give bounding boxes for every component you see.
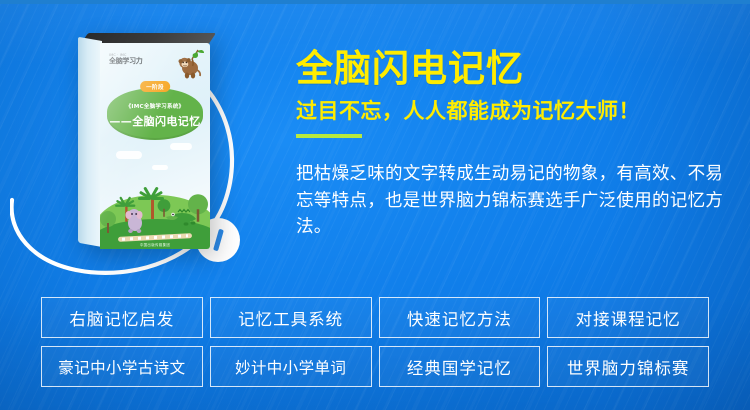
cover-title-plate: 一阶段 《IMC全脑学习系统》 ——全脑闪电记忆 xyxy=(107,88,203,140)
feature-tag[interactable]: 经典国学记忆 xyxy=(379,346,541,387)
cover-main-title: ——全脑闪电记忆 xyxy=(107,113,203,129)
cover-brand-logo: IMC · IMC 全脑学习力 xyxy=(109,54,143,65)
feature-tag[interactable]: 快速记忆方法 xyxy=(379,297,541,338)
feature-tag[interactable]: 妙计中小学单词 xyxy=(210,346,372,387)
crocodile-icon xyxy=(164,205,200,227)
monkey-icon xyxy=(172,48,206,82)
feature-tag-label: 记忆工具系统 xyxy=(238,306,343,330)
feature-tag[interactable]: 世界脑力锦标赛 xyxy=(547,346,709,387)
product-box: IMC · IMC 全脑学习力 xyxy=(78,33,210,255)
cover-illustration: 中国出版传媒集团 xyxy=(100,161,210,249)
feature-tag-label: 经典国学记忆 xyxy=(407,355,512,379)
promo-banner: IMC · IMC 全脑学习力 xyxy=(0,0,750,410)
description-paragraph: 把枯燥乏味的文字转成生动易记的物象，有高效、不易忘等特点，也是世界脑力锦标赛选手… xyxy=(296,161,724,241)
headline: 全脑闪电记忆 xyxy=(296,50,738,87)
cover-brand-name: 全脑学习力 xyxy=(109,58,143,65)
cover-stage-badge: 一阶段 xyxy=(140,81,170,92)
feature-tag[interactable]: 豪记中小学古诗文 xyxy=(41,346,203,387)
product-image-area: IMC · IMC 全脑学习力 xyxy=(0,0,285,292)
step-number-slash xyxy=(213,229,224,252)
feature-tag-label: 对接课程记忆 xyxy=(576,306,681,330)
feature-tag-label: 世界脑力锦标赛 xyxy=(567,355,690,379)
feature-tag-label: 右脑记忆启发 xyxy=(69,306,174,330)
copy-block: 全脑闪电记忆 过目不忘，人人都能成为记忆大师！ 把枯燥乏味的文字转成生动易记的物… xyxy=(296,50,738,241)
feature-tag-label: 妙计中小学单词 xyxy=(235,356,346,378)
feature-tag[interactable]: 右脑记忆启发 xyxy=(41,297,203,338)
feature-tag-label: 快速记忆方法 xyxy=(407,306,512,330)
cloud-icon xyxy=(116,151,142,159)
accent-divider xyxy=(296,134,362,138)
product-box-cover: IMC · IMC 全脑学习力 xyxy=(100,43,210,249)
product-box-spine xyxy=(78,37,102,247)
feature-tag[interactable]: 对接课程记忆 xyxy=(547,297,709,338)
subheadline: 过目不忘，人人都能成为记忆大师！ xyxy=(296,101,738,122)
cover-series-title: 《IMC全脑学习系统》 xyxy=(107,102,203,110)
feature-tag-grid: 右脑记忆启发 记忆工具系统 快速记忆方法 对接课程记忆 豪记中小学古诗文 妙计中… xyxy=(41,297,709,387)
tree-icon xyxy=(100,211,116,233)
elephant-icon xyxy=(122,205,148,233)
cloud-icon xyxy=(170,143,192,150)
cover-publisher: 中国出版传媒集团 xyxy=(100,242,210,247)
feature-tag[interactable]: 记忆工具系统 xyxy=(210,297,372,338)
feature-tag-label: 豪记中小学古诗文 xyxy=(58,356,185,378)
